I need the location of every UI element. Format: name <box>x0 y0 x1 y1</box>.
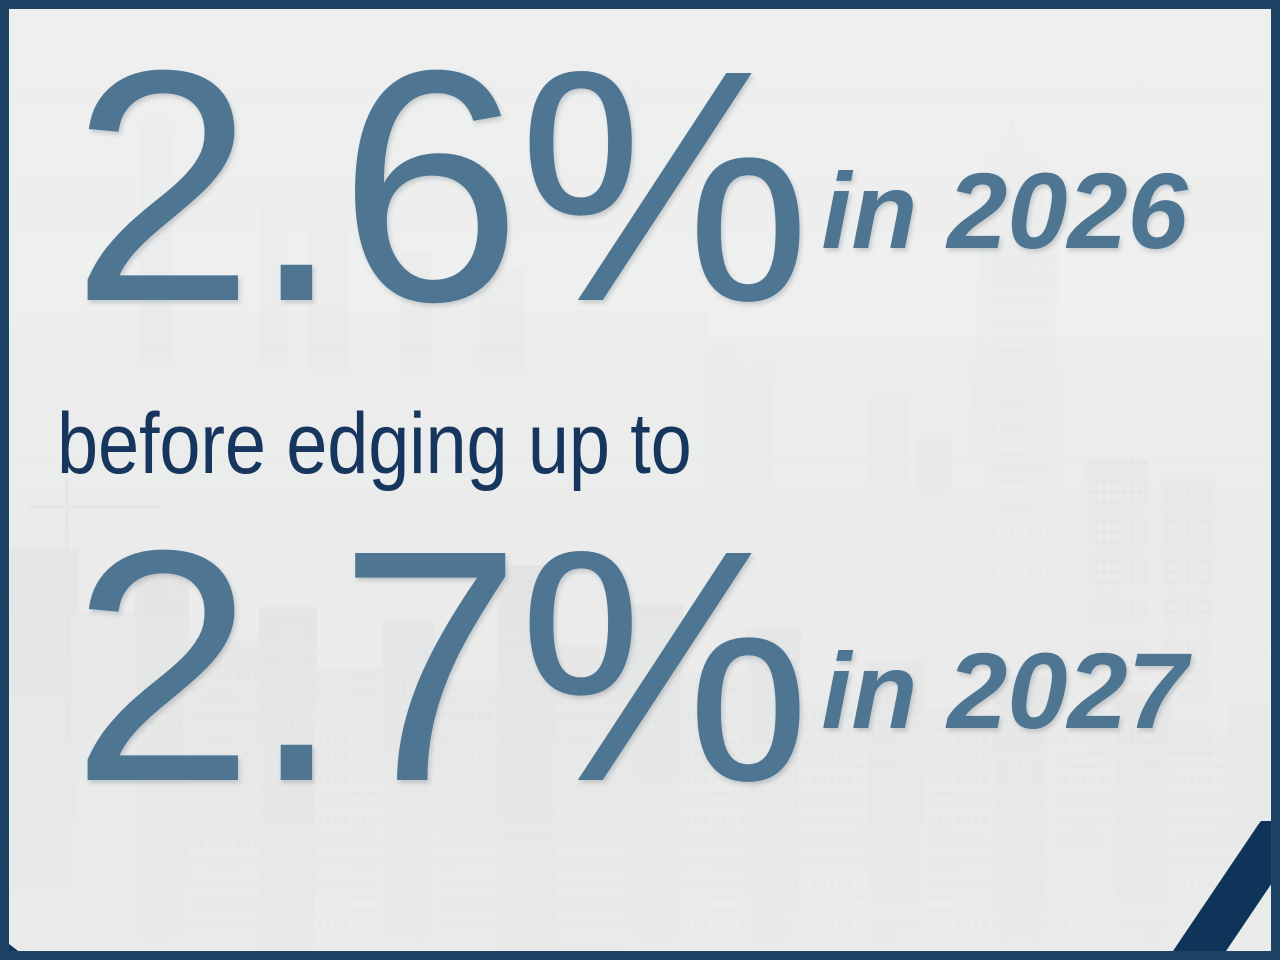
slide-frame: 2.6%in 2026 before edging up to 2.7%in 2… <box>0 0 1280 960</box>
stat-value-2026: 2.6% <box>71 21 807 351</box>
connector-row: before edging up to <box>57 401 795 487</box>
stat-row-2026: 2.6%in 2026 <box>71 21 1174 351</box>
stat-suffix-2027: in 2027 <box>821 637 1187 745</box>
stat-row-2027: 2.7%in 2027 <box>71 501 1174 831</box>
slide-content: 2.6%in 2026 before edging up to 2.7%in 2… <box>9 9 1271 951</box>
slide-canvas: 2.6%in 2026 before edging up to 2.7%in 2… <box>9 9 1271 951</box>
connector-text: before edging up to <box>57 401 692 487</box>
stat-value-2027: 2.7% <box>71 501 807 831</box>
stat-suffix-2026: in 2026 <box>821 157 1187 265</box>
